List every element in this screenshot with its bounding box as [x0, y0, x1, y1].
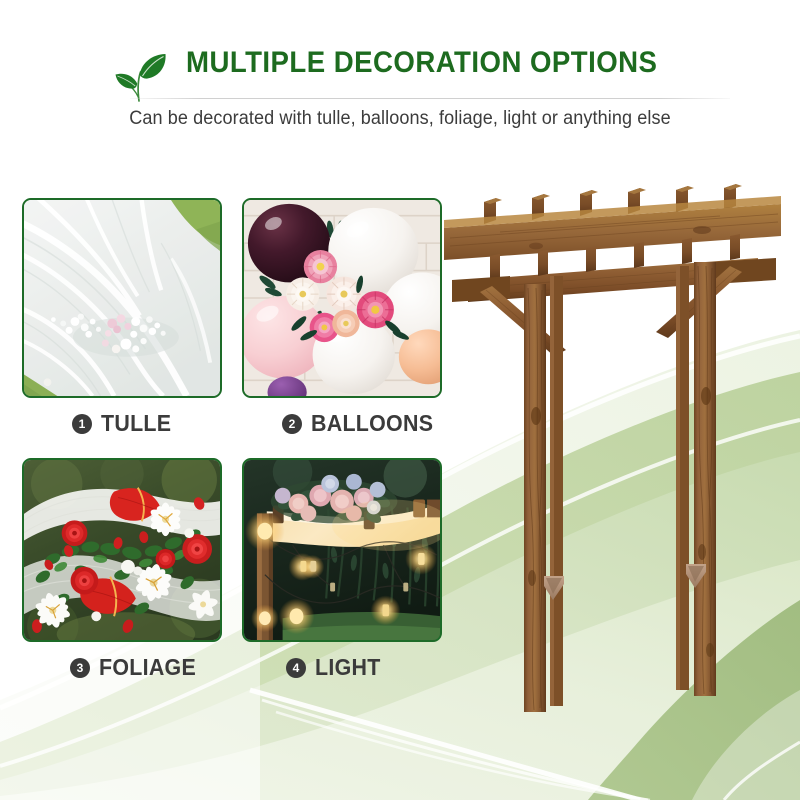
- title-divider: [130, 98, 730, 99]
- decoration-options-infographic: MULTIPLE DECORATION OPTIONS Can be decor…: [0, 0, 800, 800]
- photo-frame-balloons[interactable]: [242, 198, 442, 398]
- decoration-option-tulle[interactable]: 1 TULLE: [22, 198, 222, 435]
- decoration-option-foliage[interactable]: 3 FOLIAGE: [22, 458, 222, 679]
- caption-label: TULLE: [101, 412, 171, 435]
- caption-tulle: 1 TULLE: [22, 412, 222, 435]
- header-row: MULTIPLE DECORATION OPTIONS: [0, 46, 800, 102]
- pergola-roof: [444, 184, 781, 302]
- decoration-option-balloons[interactable]: 2 BALLOONS: [242, 198, 442, 435]
- caption-label: FOLIAGE: [99, 656, 196, 679]
- tulle-photo: [24, 200, 220, 396]
- pergola-right-leg: [676, 262, 716, 696]
- badge-number: 1: [72, 414, 92, 434]
- photo-frame-foliage[interactable]: [22, 458, 222, 642]
- page-subtitle: Can be decorated with tulle, balloons, f…: [20, 108, 780, 130]
- badge-number: 2: [282, 414, 302, 434]
- caption-label: LIGHT: [315, 656, 381, 679]
- foliage-photo: [24, 460, 220, 640]
- pergola-left-leg: [524, 276, 564, 712]
- sprout-leaf-icon: [108, 50, 172, 102]
- decoration-option-light[interactable]: 4 LIGHT: [242, 458, 442, 679]
- badge-number: 4: [286, 658, 306, 678]
- balloons-photo: [244, 200, 440, 396]
- product-image-wooden-pergola-arbor: [440, 180, 785, 720]
- header: MULTIPLE DECORATION OPTIONS Can be decor…: [0, 46, 800, 102]
- caption-balloons: 2 BALLOONS: [242, 412, 442, 435]
- caption-foliage: 3 FOLIAGE: [22, 656, 222, 679]
- light-photo: [244, 460, 440, 640]
- caption-light: 4 LIGHT: [242, 656, 442, 679]
- photo-frame-tulle[interactable]: [22, 198, 222, 398]
- photo-frame-light[interactable]: [242, 458, 442, 642]
- page-title: MULTIPLE DECORATION OPTIONS: [186, 46, 657, 78]
- badge-number: 3: [70, 658, 90, 678]
- caption-label: BALLOONS: [311, 412, 433, 435]
